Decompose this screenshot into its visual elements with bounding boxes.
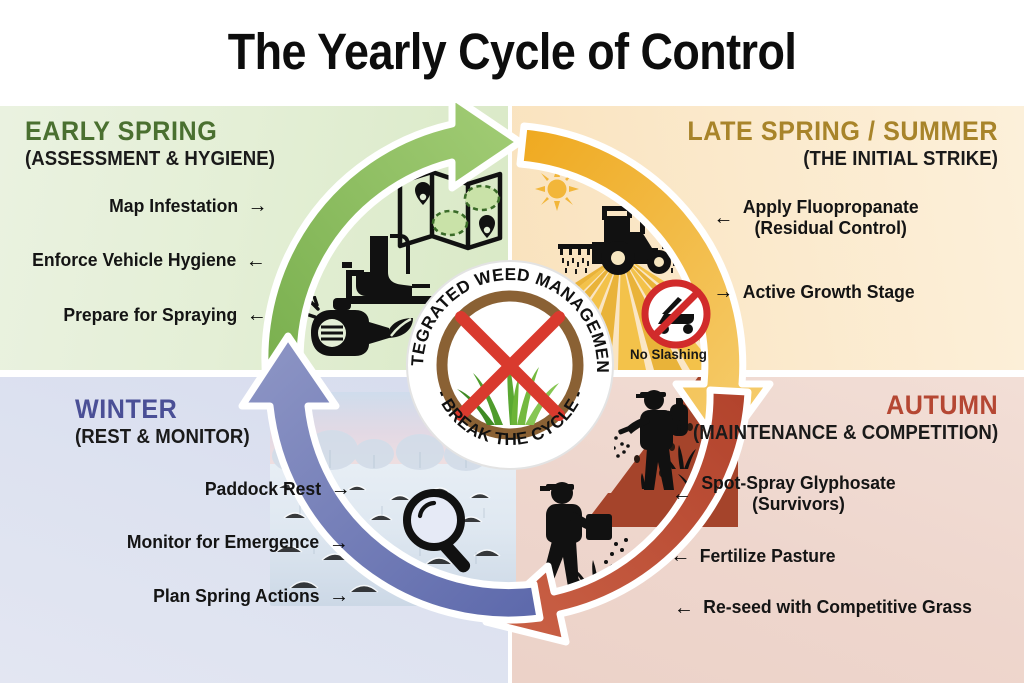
season-subtitle-winter: (REST & MONITOR) xyxy=(75,427,250,448)
season-subtitle-early-spring: (ASSESSMENT & HYGIENE) xyxy=(25,149,275,170)
action-item: Map Infestation → xyxy=(109,195,267,216)
action-label: Re-seed with Competitive Grass xyxy=(703,596,972,617)
season-title-autumn: AUTUMN xyxy=(693,392,998,420)
action-item: Enforce Vehicle Hygiene ← xyxy=(32,249,266,270)
no-slashing-icon xyxy=(640,278,712,350)
integrated-weed-management-badge: - INTEGRATED WEED MANAGEMENT - - BREAK T… xyxy=(405,259,615,471)
infographic-canvas: No Slashing xyxy=(0,0,1024,683)
action-label: Paddock Rest xyxy=(204,478,320,499)
arrow-right-icon: → xyxy=(248,195,268,216)
action-sublabel: (Survivors) xyxy=(701,493,895,514)
action-item: ← Fertilize Pasture xyxy=(670,545,835,566)
arrow-left-icon: ← xyxy=(713,207,733,228)
leaf-blower-icon xyxy=(305,296,421,362)
action-list-winter: Paddock Rest → Monitor for Emergence → P… xyxy=(0,478,354,606)
action-item: ← Apply Fluopropanate (Residual Control) xyxy=(713,196,918,239)
action-item: → Active Growth Stage xyxy=(713,281,914,302)
action-label: Prepare for Spraying xyxy=(63,304,237,325)
arrow-left-icon: ← xyxy=(674,597,694,618)
action-list-early-spring: Map Infestation → Enforce Vehicle Hygien… xyxy=(0,195,272,325)
action-label: Monitor for Emergence xyxy=(126,531,318,552)
arrow-left-icon: ← xyxy=(247,304,267,325)
arrow-right-icon: → xyxy=(328,532,348,553)
action-item: Prepare for Spraying ← xyxy=(63,304,266,325)
no-slashing-label: No Slashing xyxy=(630,346,707,362)
action-item: Monitor for Emergence → xyxy=(126,531,348,552)
action-list-late-spring-summer: ← Apply Fluopropanate (Residual Control)… xyxy=(708,196,924,302)
season-title-early-spring: EARLY SPRING xyxy=(25,118,275,146)
action-item: Plan Spring Actions → xyxy=(153,585,349,606)
action-label: Active Growth Stage xyxy=(743,281,915,302)
action-label: Fertilize Pasture xyxy=(700,545,836,566)
action-sublabel: (Residual Control) xyxy=(743,217,919,238)
arrow-left-icon: ← xyxy=(670,545,690,566)
action-item: Paddock Rest → xyxy=(204,478,350,499)
title-bar: The Yearly Cycle of Control xyxy=(0,0,1024,103)
action-label: Spot-Spray Glyphosate xyxy=(701,472,895,493)
season-subtitle-late-spring-summer: (THE INITIAL STRIKE) xyxy=(687,149,998,170)
magnifying-glass-icon xyxy=(398,486,482,578)
action-label: Enforce Vehicle Hygiene xyxy=(32,249,236,270)
arrow-right-icon: → xyxy=(713,281,733,302)
action-item: ← Re-seed with Competitive Grass xyxy=(674,596,972,617)
heading-late-spring-summer: LATE SPRING / SUMMER (THE INITIAL STRIKE… xyxy=(664,118,998,170)
season-subtitle-autumn: (MAINTENANCE & COMPETITION) xyxy=(693,423,998,444)
arrow-right-icon: → xyxy=(330,478,350,499)
heading-early-spring: EARLY SPRING (ASSESSMENT & HYGIENE) xyxy=(25,118,294,170)
arrow-left-icon: ← xyxy=(246,250,266,271)
page-title: The Yearly Cycle of Control xyxy=(228,26,797,77)
action-item: ← Spot-Spray Glyphosate (Survivors) xyxy=(672,472,896,515)
action-label: Map Infestation xyxy=(109,195,238,216)
season-title-late-spring-summer: LATE SPRING / SUMMER xyxy=(687,118,998,146)
action-list-autumn: ← Spot-Spray Glyphosate (Survivors) ← Fe… xyxy=(666,472,980,618)
action-label: Plan Spring Actions xyxy=(153,585,319,606)
season-title-winter: WINTER xyxy=(75,396,250,424)
arrow-left-icon: ← xyxy=(672,483,692,504)
heading-winter: WINTER (REST & MONITOR) xyxy=(75,396,263,448)
action-label: Apply Fluopropanate xyxy=(743,196,919,217)
heading-autumn: AUTUMN (MAINTENANCE & COMPETITION) xyxy=(670,392,998,444)
seed-spreader-person-icon xyxy=(528,478,636,590)
arrow-right-icon: → xyxy=(329,585,349,606)
